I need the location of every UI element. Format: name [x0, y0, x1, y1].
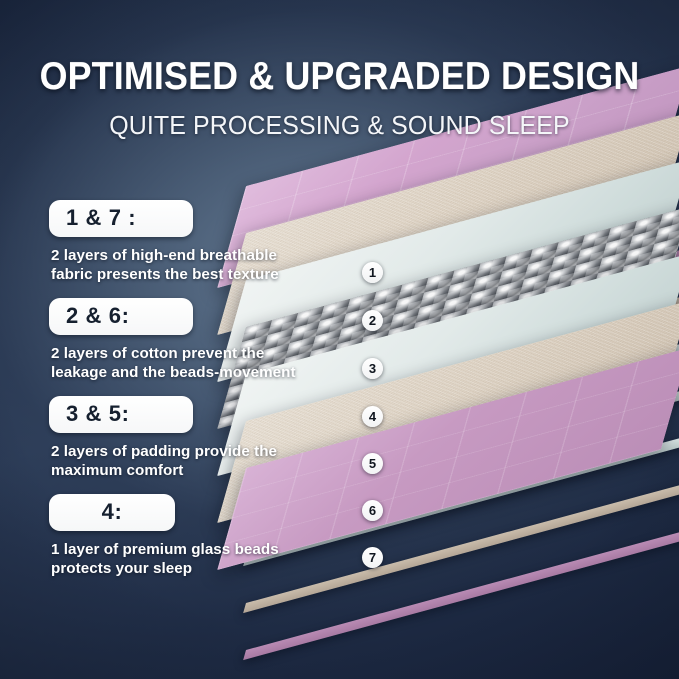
callout-1-description: 2 layers of high-end breathable fabric p… [51, 246, 303, 285]
callout-2-and-6: 2 & 6: 2 layers of cotton prevent the le… [49, 298, 315, 383]
callout-list: 1 & 7 : 2 layers of high-end breathable … [49, 200, 315, 578]
callout-1-chip: 1 & 7 : [49, 200, 193, 237]
callout-3-and-5: 3 & 5: 2 layers of padding provide the m… [49, 396, 315, 481]
infographic-page: OPTIMISED & UPGRADED DESIGN QUITE PROCES… [0, 0, 679, 679]
callout-2-description: 2 layers of cotton prevent the leakage a… [51, 344, 303, 383]
callout-4: 4: 1 layer of premium glass beads protec… [49, 494, 315, 579]
header: OPTIMISED & UPGRADED DESIGN QUITE PROCES… [0, 0, 679, 140]
callout-1-and-7: 1 & 7 : 2 layers of high-end breathable … [49, 200, 315, 285]
callout-3-chip: 3 & 5: [49, 396, 193, 433]
page-subtitle: QUITE PROCESSING & SOUND SLEEP [14, 97, 666, 140]
callout-2-chip: 2 & 6: [49, 298, 193, 335]
callout-4-description: 1 layer of premium glass beads protects … [51, 540, 303, 579]
callout-4-chip: 4: [49, 494, 175, 531]
page-title: OPTIMISED & UPGRADED DESIGN [24, 0, 655, 97]
callout-3-description: 2 layers of padding provide the maximum … [51, 442, 303, 481]
